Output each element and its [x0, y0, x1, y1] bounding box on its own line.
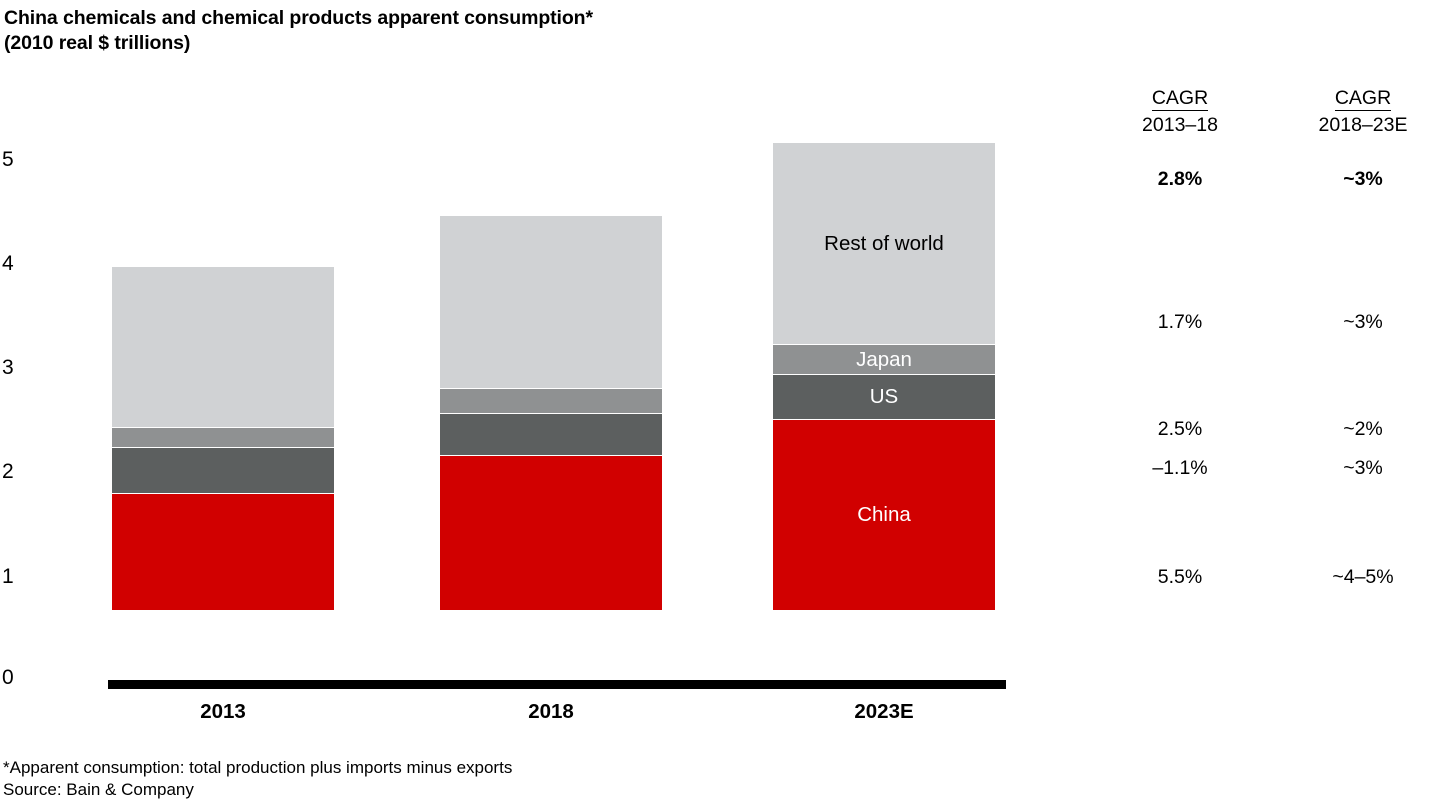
segment-2018-us[interactable] — [440, 413, 662, 455]
cagr-1-total: 2.8% — [1085, 168, 1275, 190]
segment-2018-rest-of-world[interactable] — [440, 215, 662, 388]
segment-label-japan: Japan — [856, 349, 912, 371]
cagr-header-2-title: CAGR — [1335, 86, 1391, 111]
y-tick-2: 2 — [2, 461, 36, 482]
y-tick-1: 1 — [2, 566, 36, 587]
cagr-1-japan: 2.5% — [1085, 418, 1275, 440]
cagr-1-china: 5.5% — [1085, 566, 1275, 588]
cagr-2-china: ~4–5% — [1268, 566, 1440, 588]
footnotes: *Apparent consumption: total production … — [3, 757, 512, 801]
segment-2013-china[interactable] — [112, 493, 334, 610]
y-tick-0: 0 — [2, 667, 36, 688]
x-axis-line — [108, 680, 1006, 689]
cagr-header-2013-18: CAGR 2013–18 — [1085, 86, 1275, 137]
cagr-2-rest-of-world: ~3% — [1268, 311, 1440, 333]
cagr-header-1-range: 2013–18 — [1085, 113, 1275, 137]
plot-area: 5 4 3 2 1 0 Rest of world Japan — [0, 0, 1060, 740]
chart-page: China chemicals and chemical products ap… — [0, 0, 1440, 810]
bar-2023e[interactable]: Rest of world Japan US China — [773, 142, 995, 610]
segment-2018-japan[interactable] — [440, 388, 662, 413]
cagr-2-japan: ~2% — [1268, 418, 1440, 440]
y-tick-4: 4 — [2, 253, 36, 274]
segment-2013-rest-of-world[interactable] — [112, 266, 334, 427]
cagr-header-2-range: 2018–23E — [1268, 113, 1440, 137]
segment-2013-us[interactable] — [112, 447, 334, 493]
x-tick-2013: 2013 — [112, 700, 334, 724]
x-tick-2023e: 2023E — [773, 700, 995, 724]
footnote-source: Source: Bain & Company — [3, 779, 512, 801]
footnote-apparent-consumption: *Apparent consumption: total production … — [3, 757, 512, 779]
segment-2023e-us[interactable]: US — [773, 374, 995, 419]
segment-label-rest-of-world: Rest of world — [824, 233, 944, 255]
segment-2023e-rest-of-world[interactable]: Rest of world — [773, 142, 995, 344]
y-tick-5: 5 — [2, 149, 36, 170]
cagr-1-us: –1.1% — [1085, 457, 1275, 479]
cagr-2-total: ~3% — [1268, 168, 1440, 190]
cagr-header-2018-23e: CAGR 2018–23E — [1268, 86, 1440, 137]
x-tick-2018: 2018 — [440, 700, 662, 724]
segment-2023e-japan[interactable]: Japan — [773, 344, 995, 374]
bar-2018[interactable] — [440, 215, 662, 610]
cagr-header-1-title: CAGR — [1152, 86, 1208, 111]
bar-2013[interactable] — [112, 266, 334, 610]
cagr-1-rest-of-world: 1.7% — [1085, 311, 1275, 333]
y-tick-3: 3 — [2, 357, 36, 378]
segment-label-us: US — [870, 386, 898, 408]
segment-2023e-china[interactable]: China — [773, 419, 995, 610]
segment-2013-japan[interactable] — [112, 427, 334, 447]
segment-2018-china[interactable] — [440, 455, 662, 610]
cagr-2-us: ~3% — [1268, 457, 1440, 479]
segment-label-china: China — [857, 504, 911, 526]
